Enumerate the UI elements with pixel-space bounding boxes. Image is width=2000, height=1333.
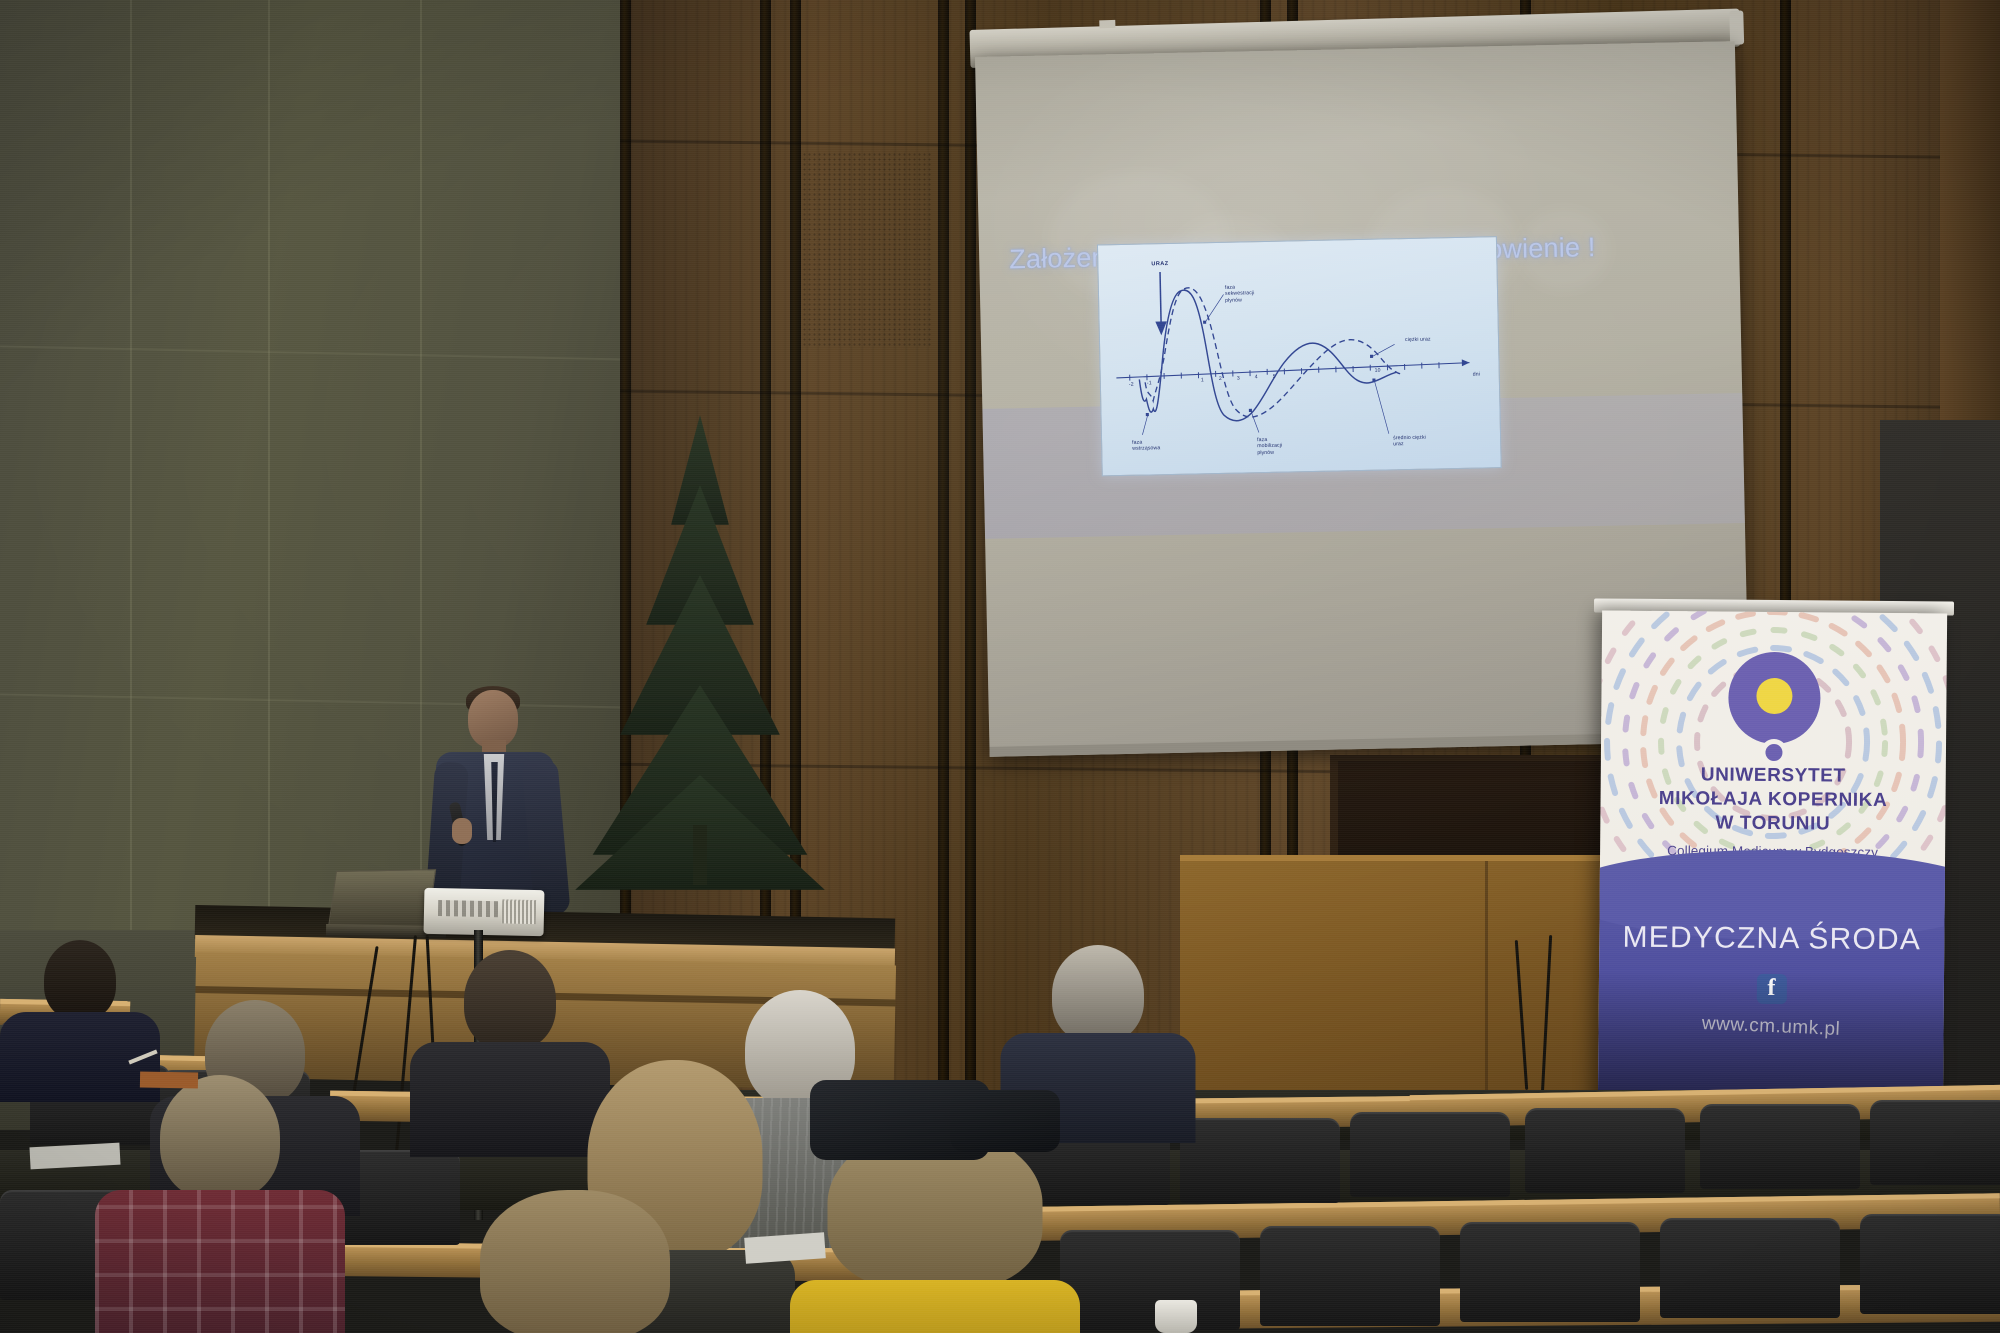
audience-seat[interactable]: [1060, 1230, 1240, 1330]
audience-member: [790, 1130, 1080, 1333]
audience-seat[interactable]: [1660, 1218, 1840, 1318]
roll-up-banner: UNIWERSYTET MIKOŁAJA KOPERNIKA W TORUNIU…: [1598, 611, 1947, 1114]
acoustic-perforated-panel: [802, 152, 932, 348]
white-cup: [1155, 1300, 1197, 1333]
christmas-fir-tree: [575, 405, 825, 885]
slide-chart: URAZ faza sekwestracji płynów faza wstrz…: [1097, 236, 1502, 476]
laptop: [328, 869, 436, 929]
chart-xtick-1: 1: [1201, 377, 1204, 383]
chart-svg: [1106, 243, 1492, 469]
chart-xtick-10: 10: [1375, 368, 1381, 375]
projector: [424, 888, 545, 937]
chart-annotation-srednio-ciezki: średnio ciężki uraz: [1393, 435, 1426, 448]
orange-folder: [140, 1071, 198, 1088]
chart-annotation-mobilizacja: faza mobilizacji płynów: [1257, 437, 1282, 457]
audience-seat[interactable]: [1860, 1214, 2000, 1314]
backpack-on-desk-2: [950, 1090, 1060, 1152]
audience-seat[interactable]: [1260, 1226, 1440, 1326]
lecture-hall-photo: Założenie: mniejszy uraz = szybsze zdrow…: [0, 0, 2000, 1333]
chart-annotation-wstrzasowa: faza wstrząsowa: [1132, 439, 1160, 452]
paper-sheet-2: [29, 1143, 120, 1170]
chart-axis-label-dni: dni: [1473, 371, 1480, 378]
chart-annotation-uraz: URAZ: [1151, 261, 1168, 268]
chart-xtick-4: 4: [1255, 374, 1258, 380]
chart-xtick-2: 2: [1219, 376, 1222, 382]
audience-seat[interactable]: [1700, 1104, 1860, 1189]
chart-xtick--2: -2: [1129, 382, 1134, 389]
audience-seat[interactable]: [1870, 1100, 2000, 1185]
paper-sheet: [744, 1232, 826, 1264]
audience-member: [440, 1190, 710, 1333]
chart-xtick-3: 3: [1237, 376, 1240, 382]
chart-xtick--1: -1: [1147, 380, 1152, 387]
speaker-hand-left: [452, 818, 472, 844]
audience-member: [95, 1075, 345, 1333]
audience-seat[interactable]: [1460, 1222, 1640, 1322]
chart-annotation-sekwestracja: faza sekwestracji płynów: [1225, 284, 1255, 304]
chart-annotation-ciezki-uraz: ciężki uraz: [1405, 337, 1431, 344]
audience-seat[interactable]: [1180, 1118, 1340, 1203]
audience-seat[interactable]: [1525, 1108, 1685, 1193]
audience-seat[interactable]: [1350, 1112, 1510, 1197]
chart-xtick-5: 5: [1273, 374, 1276, 380]
